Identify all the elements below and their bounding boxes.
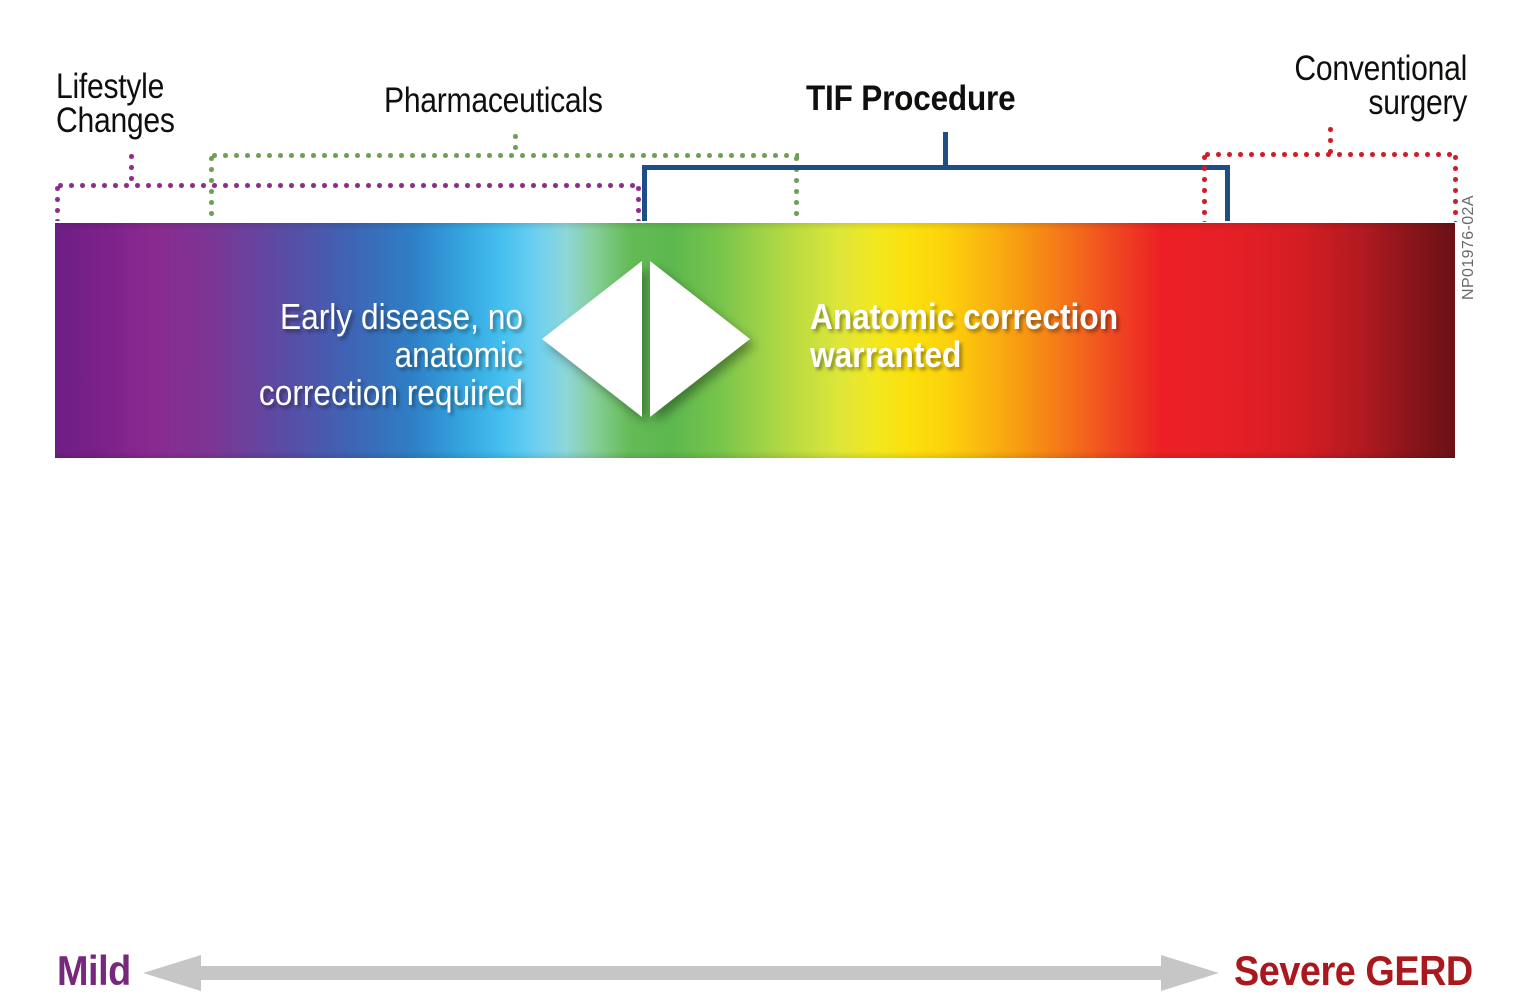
- treatment-label-pharmaceuticals: Pharmaceuticals: [384, 84, 603, 118]
- bracket-right-end: [636, 183, 641, 221]
- bracket-label-tick: [1328, 124, 1333, 154]
- bracket-label-tick: [943, 132, 948, 167]
- infographic-root: Lifestyle Changes Pharmaceuticals TIF Pr…: [0, 0, 1536, 585]
- bracket-right-end: [1453, 152, 1458, 222]
- split-diamond-marker: [538, 259, 754, 419]
- treatment-label-lifestyle-changes: Lifestyle Changes: [56, 70, 175, 137]
- treatment-label-conventional-surgery: Conventional surgery: [1281, 52, 1467, 119]
- bracket-right-end: [1225, 165, 1230, 221]
- scale-label-severe-gerd: Severe GERD: [1234, 947, 1473, 995]
- spectrum-caption-right: Anatomic correction warranted: [810, 298, 1180, 374]
- bracket-left-end: [642, 165, 647, 221]
- bracket-label-tick: [129, 151, 134, 185]
- bracket-span-line: [55, 183, 640, 188]
- double-headed-arrow-icon: [143, 955, 1219, 991]
- document-code: NP01976-02A: [1460, 195, 1478, 300]
- scale-label-mild: Mild: [57, 947, 131, 995]
- bracket-right-end: [794, 153, 799, 222]
- bracket-span-line: [209, 153, 799, 158]
- bracket-left-end: [55, 183, 60, 221]
- bracket-left-end: [1202, 152, 1207, 222]
- bracket-label-tick: [513, 131, 518, 155]
- bracket-span-line: [642, 165, 1230, 170]
- bracket-left-end: [209, 153, 214, 222]
- treatment-label-tif-procedure: TIF Procedure: [806, 82, 1015, 116]
- spectrum-caption-left: Early disease, no anatomic correction re…: [158, 298, 523, 412]
- severity-scale: Mild Severe GERD: [0, 468, 1536, 538]
